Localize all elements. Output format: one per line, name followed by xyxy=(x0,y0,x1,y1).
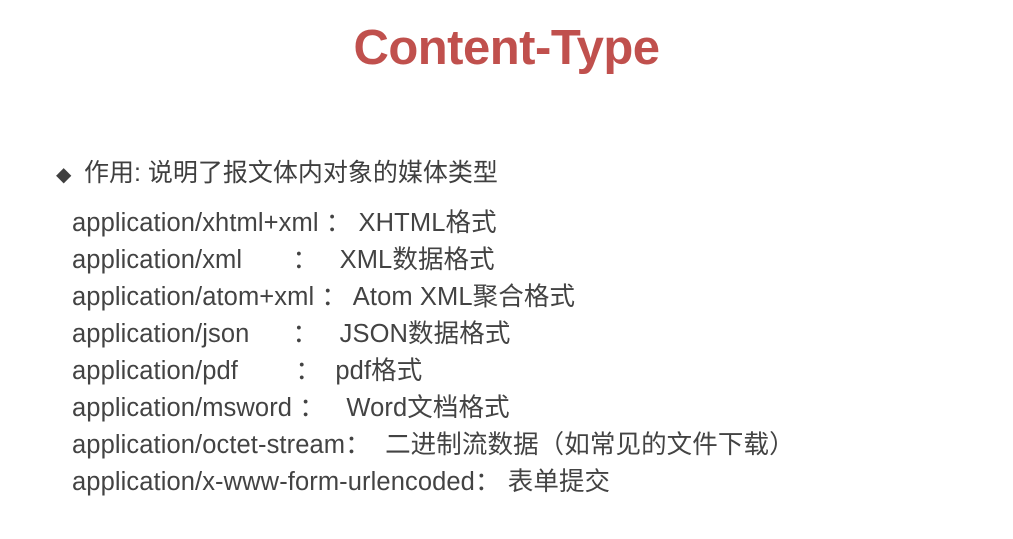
list-item: application/xml ： XML数据格式 xyxy=(72,242,1006,279)
mime-type-list: application/xhtml+xml ： XHTML格式 applicat… xyxy=(72,205,1006,501)
bullet-purpose: ◆ 作用: 说明了报文体内对象的媒体类型 xyxy=(56,158,1006,189)
list-item: application/msword ： Word文档格式 xyxy=(72,390,1006,427)
list-item: application/pdf ： pdf格式 xyxy=(72,353,1006,390)
slide-body: ◆ 作用: 说明了报文体内对象的媒体类型 application/xhtml+x… xyxy=(56,158,1006,501)
page-title: Content-Type xyxy=(0,22,1013,75)
bullet-purpose-label: 作用: 说明了报文体内对象的媒体类型 xyxy=(84,158,498,189)
list-item: application/atom+xml ： Atom XML聚合格式 xyxy=(72,279,1006,316)
diamond-bullet-icon: ◆ xyxy=(56,165,84,185)
list-item: application/x-www-form-urlencoded： 表单提交 xyxy=(72,464,1006,501)
list-item: application/json ： JSON数据格式 xyxy=(72,316,1006,353)
list-item: application/xhtml+xml ： XHTML格式 xyxy=(72,205,1006,242)
slide-content-type: Content-Type ◆ 作用: 说明了报文体内对象的媒体类型 applic… xyxy=(0,0,1013,539)
list-item: application/octet-stream： 二进制流数据（如常见的文件下… xyxy=(72,427,1006,464)
